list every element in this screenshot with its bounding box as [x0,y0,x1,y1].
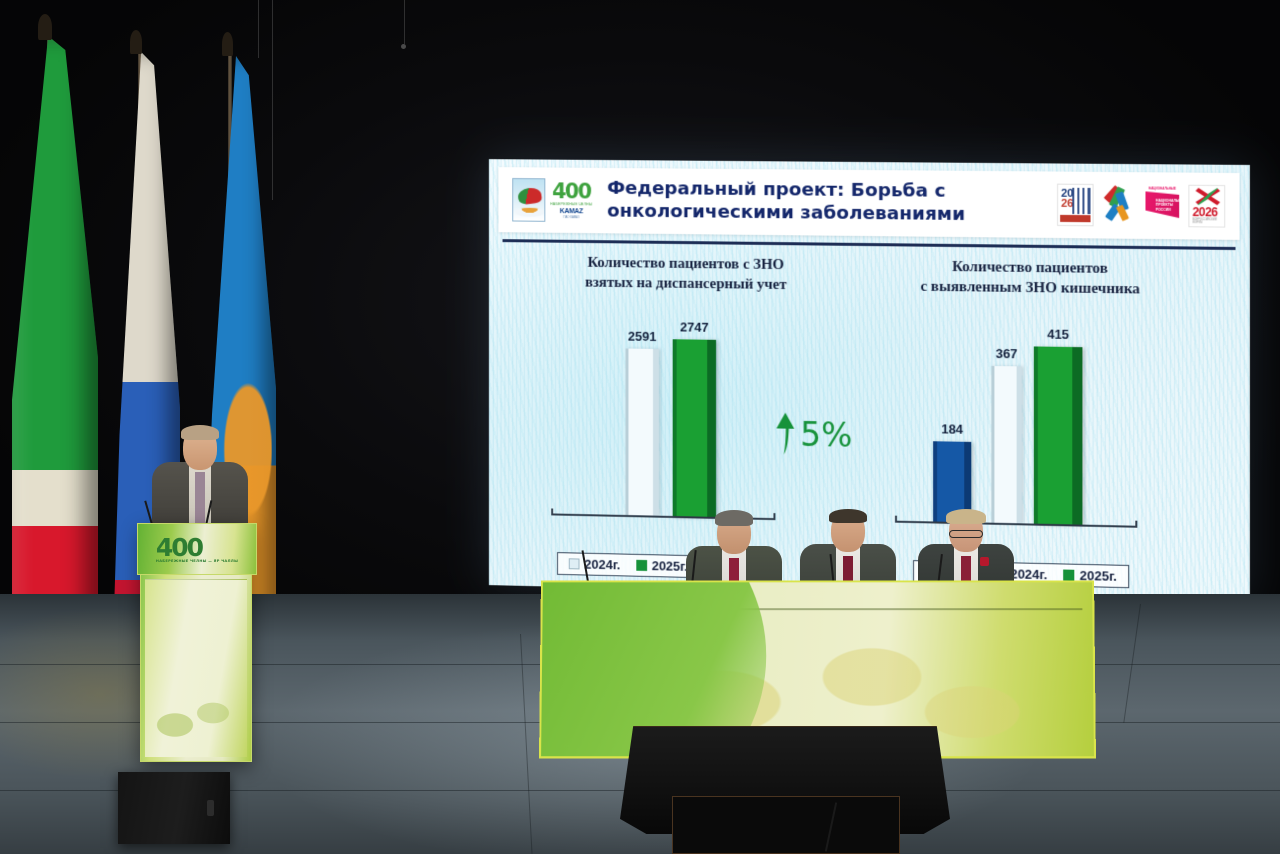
stage-confidence-monitor-stand [672,796,900,854]
bar-2025-dispensary: 2747 [673,339,716,517]
slide-title: Федеральный проект: Борьба с онкологичес… [592,178,1057,227]
x-2026-logo-icon: 2026 ВСЕРОССИЙСКИЙФОРУМ [1188,185,1225,228]
anniversary-400-kamaz-logo-icon: 400 НАБЕРЕЖНЫЕ ЧЕЛНЫ KAMAZ ПАО КАМАЗ [550,182,592,219]
chart-left-plot: 2591 2747 [551,337,775,520]
speaker-at-podium [152,424,248,528]
hair [829,509,867,523]
national-projects-russia-logo-icon: НАЦИОНАЛЬНЫЕ НАЦИОНАЛЬНЫЕПРОЕКТЫРОССИИ [1144,184,1181,227]
legend-label-2025-left: 2025г. [652,558,688,574]
bar-2025-intestinal: 415 [1034,346,1083,524]
header-right-logos: 2026 НАЦИОНАЛЬНЫЕ НАЦИОНАЛЬНЫЕПРОЕКТЫРОС… [1057,184,1240,228]
slide-header: 400 НАБЕРЕЖНЫЕ ЧЕЛНЫ KAMAZ ПАО КАМАЗ Фед… [499,167,1240,240]
growth-annotation: 5% [775,410,852,457]
podium-400-caption: НАБЕРЕЖНЫЕ ЧЕЛНЫ — ЯР ЧАЛЛЫ [156,560,238,564]
legend-swatch-2025-right [1063,570,1074,581]
anniversary-400-text: 400 [552,182,590,203]
hair [715,510,753,526]
kamaz-subtext: ПАО КАМАЗ [563,215,579,219]
chart-left-title-line-2: взятых на диспансерный учет [543,272,829,296]
conference-stage-scene: 400 НАБЕРЕЖНЫЕ ЧЕЛНЫ KAMAZ ПАО КАМАЗ Фед… [0,0,1280,854]
naberezhnye-chelny-coat-of-arms-icon [512,178,545,222]
bar-label-2025-intestinal: 415 [1047,327,1069,342]
flag-finial [38,14,52,40]
multicolor-ribbon-logo-icon [1101,184,1138,227]
speaker-podium: 400 НАБЕРЕЖНЫЕ ЧЕЛНЫ — ЯР ЧАЛЛЫ [140,524,252,762]
lapel-badge [980,557,989,566]
hanging-wire-weight [401,44,406,49]
stage-floor-speaker [118,772,230,844]
bar-label-2023-intestinal: 184 [941,421,963,436]
bar-label-2025-dispensary: 2747 [680,319,709,334]
bar-2024-intestinal: 367 [991,366,1021,523]
hanging-wire [404,0,405,44]
slide-title-line-2: онкологическими заболеваниями [607,201,1049,228]
flag-finial [222,32,233,56]
bar-label-2024-intestinal: 367 [996,346,1018,361]
chart-left-legend: 2024г. 2025г. [557,552,700,578]
podium-front-panel: 400 НАБЕРЕЖНЫЕ ЧЕЛНЫ — ЯР ЧАЛЛЫ [137,523,257,575]
podium-body-ornament [145,579,247,757]
podium-400-logo: 400 НАБЕРЕЖНЫЕ ЧЕЛНЫ — ЯР ЧАЛЛЫ [156,535,238,564]
chart-right-plot: 184 367 415 [895,342,1137,527]
growth-percent-label: 5% [800,417,852,451]
chart-right-title-line-2: с выявленным ЗНО кишечника [879,276,1182,300]
legend-label-2024-left: 2024г. [584,557,620,573]
eyeglasses-icon [949,530,983,538]
chart-right-title: Количество пациентов с выявленным ЗНО ки… [879,256,1182,300]
legend-item-2024-left: 2024г. [569,556,621,572]
bar-2024-dispensary: 2591 [626,348,659,515]
chart-left-title: Количество пациентов с ЗНО взятых на дис… [543,252,829,296]
up-arrow-icon [775,410,795,456]
year-of-unity-2026-logo-icon: 2026 [1057,184,1094,227]
hair [946,509,986,524]
bar-label-2024-dispensary: 2591 [628,329,656,344]
speaker-necktie [195,472,205,524]
hanging-wire [258,0,259,58]
header-left-logos: 400 НАБЕРЕЖНЫЕ ЧЕЛНЫ KAMAZ ПАО КАМАЗ [499,178,593,222]
legend-swatch-2025-left [636,560,647,571]
flag-finial [130,30,142,54]
hanging-wire [272,0,273,200]
legend-item-2025-left: 2025г. [636,558,688,574]
speaker-hair [181,425,219,440]
anniversary-400-subtext: НАБЕРЕЖНЫЕ ЧЕЛНЫ [550,202,592,207]
legend-swatch-2024-left [569,558,580,569]
